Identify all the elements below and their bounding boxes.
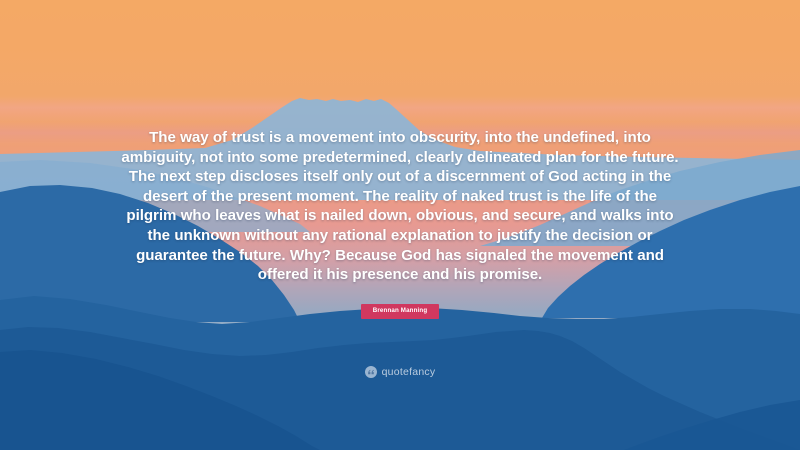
author-badge-wrap: Brennan Manning xyxy=(0,304,800,319)
quote-block: The way of trust is a movement into obsc… xyxy=(0,128,800,285)
quote-text: The way of trust is a movement into obsc… xyxy=(118,128,682,285)
quote-wallpaper: The way of trust is a movement into obsc… xyxy=(0,0,800,450)
quotefancy-brand-text: quotefancy xyxy=(382,367,436,378)
author-name-badge[interactable]: Brennan Manning xyxy=(361,304,440,319)
quotefancy-watermark[interactable]: quotefancy xyxy=(0,366,800,378)
quote-mark-icon xyxy=(365,366,377,378)
